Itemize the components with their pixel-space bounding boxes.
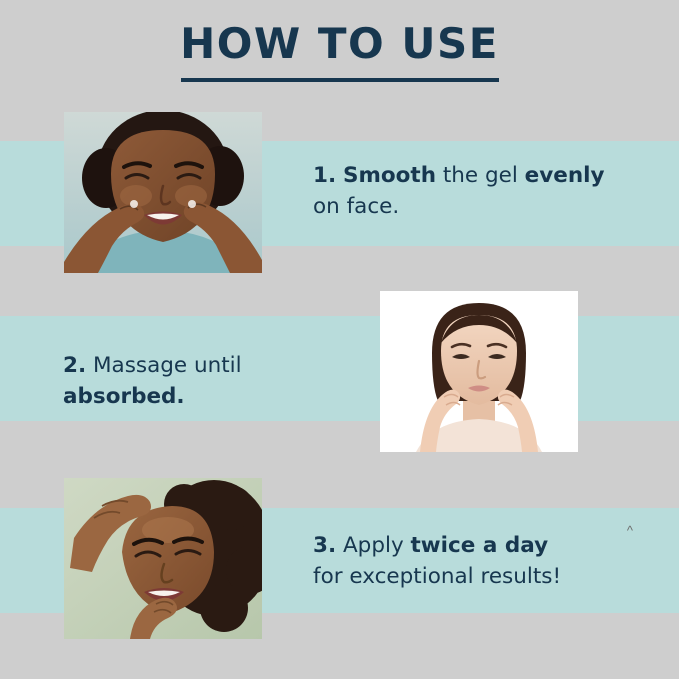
- step-3-text: 3. Apply twice a day for exceptional res…: [313, 530, 643, 592]
- title-underline: [181, 78, 499, 82]
- step-1-mid: the gel: [436, 163, 525, 188]
- step-1-line2: on face.: [313, 194, 399, 219]
- step-1-illustration: [64, 112, 262, 273]
- step-3-number: 3.: [313, 533, 336, 558]
- step-1-text: 1. Smooth the gel evenly on face.: [313, 160, 633, 222]
- step-2-line2: absorbed.: [63, 384, 185, 409]
- step-3-mid: Apply: [336, 533, 410, 558]
- step-1-bold-1: Smooth: [343, 163, 436, 188]
- step-2-illustration: [380, 291, 578, 452]
- page-title: HOW TO USE: [0, 22, 679, 66]
- step-3-line2: for exceptional results!: [313, 564, 561, 589]
- step-1-number: 1.: [313, 163, 336, 188]
- step-2-image: [380, 291, 578, 452]
- step-2-text: 2. Massage until absorbed.: [63, 350, 363, 412]
- step-3-bold: twice a day: [411, 533, 549, 558]
- step-1-bold-2: evenly: [525, 163, 605, 188]
- step-3-image: [64, 478, 262, 639]
- step-2-number: 2.: [63, 353, 86, 378]
- scroll-up-caret-icon[interactable]: ^: [627, 524, 633, 537]
- how-to-use-infographic: HOW TO USE: [0, 0, 679, 679]
- step-1-image: [64, 112, 262, 273]
- page-title-block: HOW TO USE: [0, 22, 679, 82]
- step-3-illustration: [64, 478, 262, 639]
- step-2-line1: Massage until: [86, 353, 241, 378]
